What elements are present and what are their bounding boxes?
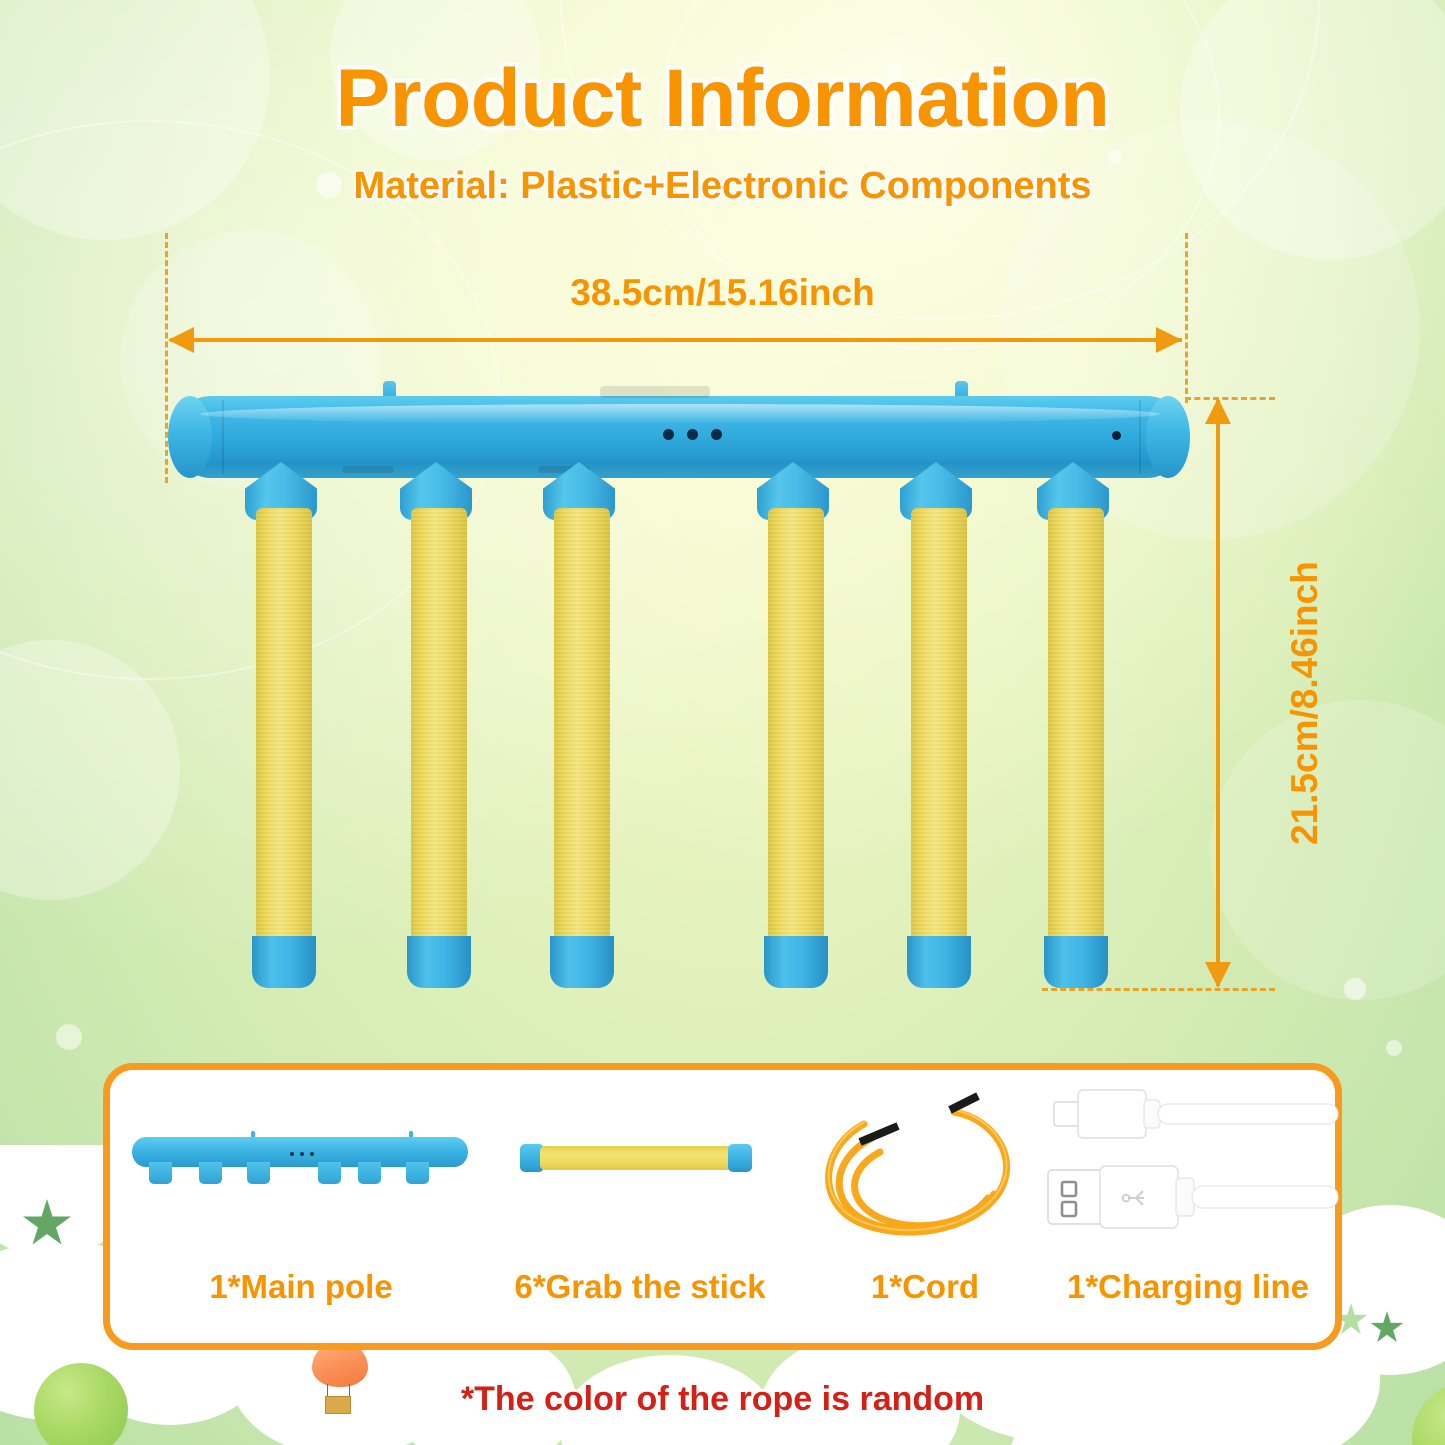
main-pole-right-endcap — [1146, 396, 1190, 478]
bokeh-dot — [1344, 978, 1366, 1000]
mini-socket — [199, 1162, 222, 1184]
grab-stick-foam — [1048, 508, 1104, 940]
arrow-right-icon — [1156, 327, 1182, 353]
bokeh-circle — [0, 640, 180, 900]
width-dimension-line — [170, 338, 1182, 342]
star-icon — [22, 1199, 72, 1249]
item-label-charging-line: 1*Charging line — [1040, 1268, 1336, 1306]
pole-button-slot — [600, 386, 710, 398]
width-dimension-label: 38.5cm/15.16inch — [0, 272, 1445, 314]
pole-vent-slot — [342, 466, 394, 473]
main-pole-bar — [172, 396, 1186, 478]
grab-stick-foam — [911, 508, 967, 940]
mini-led-dot — [290, 1152, 294, 1156]
led-indicator-dot — [711, 429, 722, 440]
bokeh-dot — [56, 1024, 82, 1050]
bokeh-dot — [66, 1145, 102, 1169]
mini-stick-foam — [540, 1146, 734, 1170]
package-contents-box: 1*Main pole 6*Grab the stick 1*Cord 1*Ch… — [103, 1063, 1342, 1350]
grab-stick-foam — [554, 508, 610, 940]
grab-stick-foam — [768, 508, 824, 940]
pole-seam — [222, 400, 224, 474]
pole-seam — [1139, 400, 1141, 474]
led-indicator-dot — [687, 429, 698, 440]
main-pole-left-endcap — [168, 396, 212, 478]
item-label-main-pole: 1*Main pole — [134, 1268, 468, 1306]
grab-stick-cap — [764, 936, 828, 988]
guide-dashed-bottom — [1042, 988, 1275, 991]
bokeh-dot — [1108, 150, 1122, 164]
page-title: Product Information — [0, 52, 1445, 146]
mini-led-dot — [300, 1152, 304, 1156]
arrow-down-icon — [1205, 962, 1231, 988]
product-information-infographic: Product Information Material: Plastic+El… — [0, 0, 1445, 1445]
charging-port-icon — [1112, 431, 1121, 440]
cord-icon — [802, 1082, 1042, 1282]
grab-stick-foam — [256, 508, 312, 940]
mini-socket — [149, 1162, 172, 1184]
charging-cable-icon — [1040, 1082, 1340, 1272]
arrow-up-icon — [1205, 398, 1231, 424]
led-indicator-dot — [663, 429, 674, 440]
mini-socket — [247, 1162, 270, 1184]
mini-led-dot — [310, 1152, 314, 1156]
star-icon — [1370, 1311, 1404, 1345]
grab-stick-cap — [407, 936, 471, 988]
grab-stick-cap — [252, 936, 316, 988]
page-subtitle: Material: Plastic+Electronic Components — [0, 165, 1445, 208]
height-dimension-line — [1216, 400, 1220, 986]
rope-color-footnote: *The color of the rope is random — [0, 1380, 1445, 1419]
grab-stick-cap — [1044, 936, 1108, 988]
grab-stick-cap — [907, 936, 971, 988]
arrow-left-icon — [168, 327, 194, 353]
mini-socket — [406, 1162, 429, 1184]
mini-socket — [358, 1162, 381, 1184]
micro-usb-connector — [1054, 1090, 1338, 1138]
grab-stick-cap — [550, 936, 614, 988]
bokeh-circle — [1210, 700, 1445, 1000]
usb-a-connector — [1048, 1166, 1338, 1228]
item-label-grab-stick: 6*Grab the stick — [480, 1268, 800, 1306]
grab-stick-foam — [411, 508, 467, 940]
height-dimension-label: 21.5cm/8.46inch — [1284, 561, 1326, 845]
mini-stick-cap — [728, 1144, 752, 1172]
bokeh-dot — [1386, 1040, 1402, 1056]
mini-socket — [318, 1162, 341, 1184]
item-label-cord: 1*Cord — [810, 1268, 1040, 1306]
guide-dashed-right — [1185, 233, 1188, 403]
